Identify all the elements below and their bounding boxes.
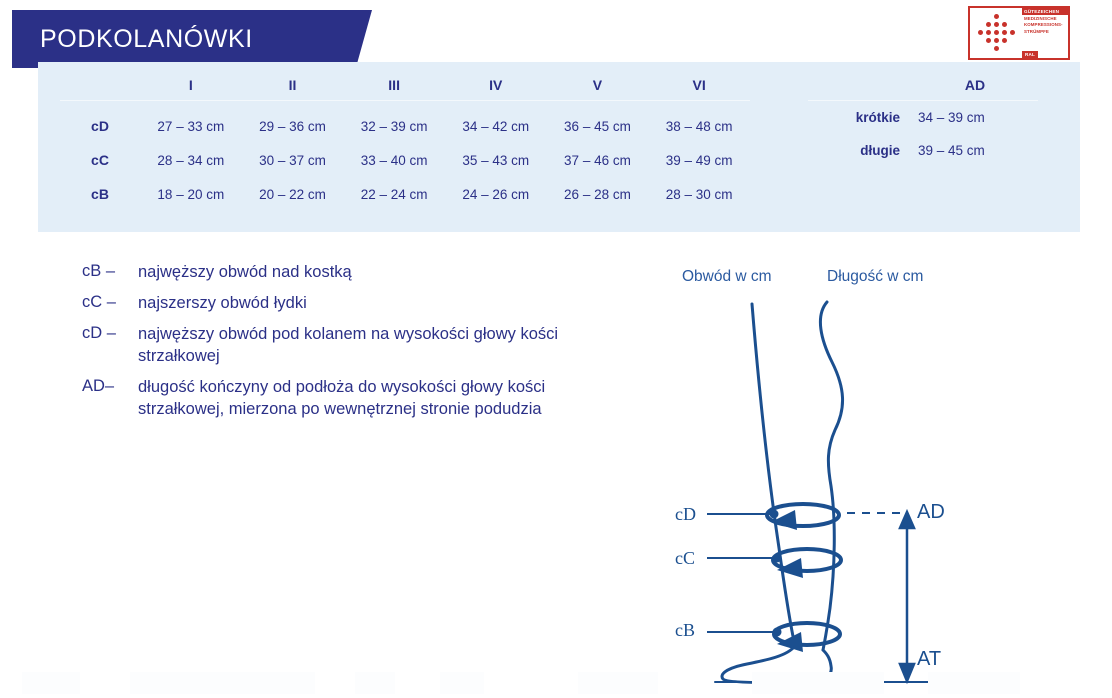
size-table: I II III IV V VI cD 27 – 33 cm 29 – 36 c… <box>60 70 750 211</box>
cell-cb-3: 22 – 24 cm <box>343 177 445 211</box>
table-header-col-2: II <box>242 70 344 101</box>
table-row: cD 27 – 33 cm 29 – 36 cm 32 – 39 cm 34 –… <box>60 101 750 144</box>
cell-cd-4: 34 – 42 cm <box>445 101 547 144</box>
bottom-artifacts <box>0 668 1112 698</box>
cell-cb-1: 18 – 20 cm <box>140 177 242 211</box>
row-label-cb: cB <box>60 177 140 211</box>
cell-cd-1: 27 – 33 cm <box>140 101 242 144</box>
table-row: cC 28 – 34 cm 30 – 37 cm 33 – 40 cm 35 –… <box>60 143 750 177</box>
measurement-legend: cB – najwęższy obwód nad kostką cC – naj… <box>82 262 627 430</box>
table-header-col-4: IV <box>445 70 547 101</box>
legend-item-cd: cD – najwęższy obwód pod kolanem na wyso… <box>82 324 627 368</box>
table-row: długie 39 – 45 cm <box>808 134 1038 167</box>
cell-cc-5: 37 – 46 cm <box>547 143 649 177</box>
cell-cb-4: 24 – 26 cm <box>445 177 547 211</box>
leg-front-line <box>820 302 842 650</box>
ad-row-label-dlugie: długie <box>808 134 912 167</box>
leader-lines <box>707 511 781 636</box>
legend-desc-cd: najwęższy obwód pod kolanem na wysokości… <box>138 324 627 368</box>
table-header-col-6: VI <box>648 70 750 101</box>
ral-line-3: STRÜMPFE <box>1022 28 1068 35</box>
ral-text-column: GÜTEZEICHEN MEDIZINISCHE KOMPRESSIONS- S… <box>1022 8 1068 58</box>
legend-desc-ad: długość kończyny od podłoża do wysokości… <box>138 377 627 421</box>
table-header-col-3: III <box>343 70 445 101</box>
legend-item-cc: cC – najszerszy obwód łydki <box>82 293 627 315</box>
ad-length-table: AD krótkie 34 – 39 cm długie 39 – 45 cm <box>808 70 1038 167</box>
legend-item-ad: AD– długość kończyny od podłoża do wysok… <box>82 377 627 421</box>
legend-key-cc: cC – <box>82 293 138 315</box>
diagram-label-cc: cC <box>675 548 695 569</box>
cell-cc-2: 30 – 37 cm <box>242 143 344 177</box>
cell-cd-5: 36 – 45 cm <box>547 101 649 144</box>
ral-dot-pattern-icon <box>970 8 1022 58</box>
size-table-panel: I II III IV V VI cD 27 – 33 cm 29 – 36 c… <box>38 62 1080 232</box>
cell-cc-4: 35 – 43 cm <box>445 143 547 177</box>
ral-guetezeichen-logo: GÜTEZEICHEN MEDIZINISCHE KOMPRESSIONS- S… <box>968 6 1070 60</box>
legend-item-cb: cB – najwęższy obwód nad kostką <box>82 262 627 284</box>
table-row: cB 18 – 20 cm 20 – 22 cm 22 – 24 cm 24 –… <box>60 177 750 211</box>
legend-key-cd: cD – <box>82 324 138 368</box>
ral-band-bottom: RAL <box>1022 51 1038 58</box>
cell-cc-6: 39 – 49 cm <box>648 143 750 177</box>
table-header-rowlabel <box>60 70 140 101</box>
table-header-col-1: I <box>140 70 242 101</box>
table-row: krótkie 34 – 39 cm <box>808 101 1038 135</box>
cell-cc-1: 28 – 34 cm <box>140 143 242 177</box>
ad-dimension-arrow <box>900 512 914 681</box>
row-label-cc: cC <box>60 143 140 177</box>
diagram-label-cb: cB <box>675 620 695 641</box>
legend-desc-cb: najwęższy obwód nad kostką <box>138 262 352 284</box>
ad-row-label-krotkie: krótkie <box>808 101 912 135</box>
ral-bottom-row: RAL <box>1022 51 1068 58</box>
leg-outline-svg <box>655 258 985 688</box>
ad-header-spacer <box>808 70 912 101</box>
page-title: PODKOLANÓWKI <box>12 25 253 54</box>
cell-cc-3: 33 – 40 cm <box>343 143 445 177</box>
ral-band-top: GÜTEZEICHEN <box>1022 8 1068 15</box>
cell-cb-5: 26 – 28 cm <box>547 177 649 211</box>
cell-cb-6: 28 – 30 cm <box>648 177 750 211</box>
diagram-label-ad: AD <box>917 501 945 524</box>
ad-table-header-row: AD <box>808 70 1038 101</box>
table-header-row: I II III IV V VI <box>60 70 750 101</box>
leg-measurement-diagram: Obwód w cm Długość w cm <box>655 258 985 688</box>
cell-cb-2: 20 – 22 cm <box>242 177 344 211</box>
legend-key-cb: cB – <box>82 262 138 284</box>
header-banner: PODKOLANÓWKI <box>12 10 372 68</box>
row-label-cd: cD <box>60 101 140 144</box>
ad-value-krotkie: 34 – 39 cm <box>912 101 1038 135</box>
legend-key-ad: AD– <box>82 377 138 421</box>
diagram-label-cd: cD <box>675 504 696 525</box>
table-header-col-5: V <box>547 70 649 101</box>
legend-desc-cc: najszerszy obwód łydki <box>138 293 307 315</box>
cell-cd-6: 38 – 48 cm <box>648 101 750 144</box>
ad-table-header: AD <box>912 70 1038 101</box>
cell-cd-3: 32 – 39 cm <box>343 101 445 144</box>
cell-cd-2: 29 – 36 cm <box>242 101 344 144</box>
leg-back-line <box>752 304 795 646</box>
ad-value-dlugie: 39 – 45 cm <box>912 134 1038 167</box>
